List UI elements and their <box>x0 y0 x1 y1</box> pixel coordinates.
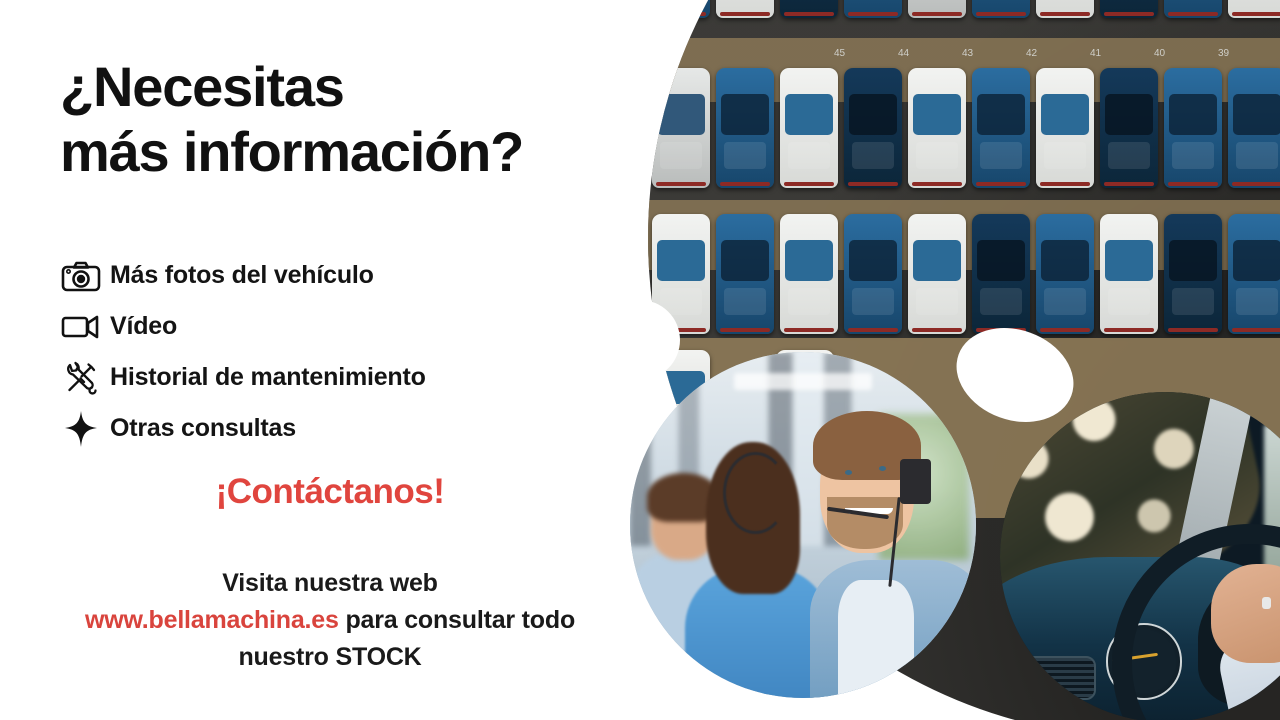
website-url[interactable]: www.bellamachina.es <box>85 606 339 634</box>
list-item: Historial de mantenimiento <box>52 352 652 403</box>
video-camera-icon <box>52 313 110 341</box>
call-center-agents-photo <box>630 352 976 698</box>
feature-list: Más fotos del vehículo Vídeo <box>52 250 652 454</box>
contact-cta: ¡Contáctanos! <box>0 472 660 512</box>
website-line-2: www.bellamachina.es para consultar todo <box>0 602 660 639</box>
headline-line-1: ¿Necesitas <box>60 55 344 118</box>
website-line-1: Visita nuestra web <box>0 565 660 602</box>
feature-label: Otras consultas <box>110 414 296 443</box>
driver-steering-wheel-photo <box>1000 392 1280 720</box>
website-line-3: nuestro STOCK <box>0 639 660 676</box>
website-info: Visita nuestra web www.bellamachina.es p… <box>0 565 660 676</box>
content-column: ¿Necesitas más información? Más fotos de… <box>0 0 680 720</box>
list-item: Otras consultas <box>52 403 652 454</box>
feature-label: Vídeo <box>110 312 177 341</box>
sparkle-icon <box>52 410 110 448</box>
feature-label: Historial de mantenimiento <box>110 363 426 392</box>
website-line-2-rest: para consultar todo <box>339 606 575 634</box>
list-item: Vídeo <box>52 301 652 352</box>
camera-icon <box>52 260 110 292</box>
tools-wrench-icon <box>52 360 110 396</box>
page-title: ¿Necesitas más información? <box>60 55 680 185</box>
list-item: Más fotos del vehículo <box>52 250 652 301</box>
promo-banner: + + + + + + + + + + + 45 44 43 42 41 40 … <box>0 0 1280 720</box>
feature-label: Más fotos del vehículo <box>110 261 374 290</box>
headline-line-2: más información? <box>60 120 680 185</box>
